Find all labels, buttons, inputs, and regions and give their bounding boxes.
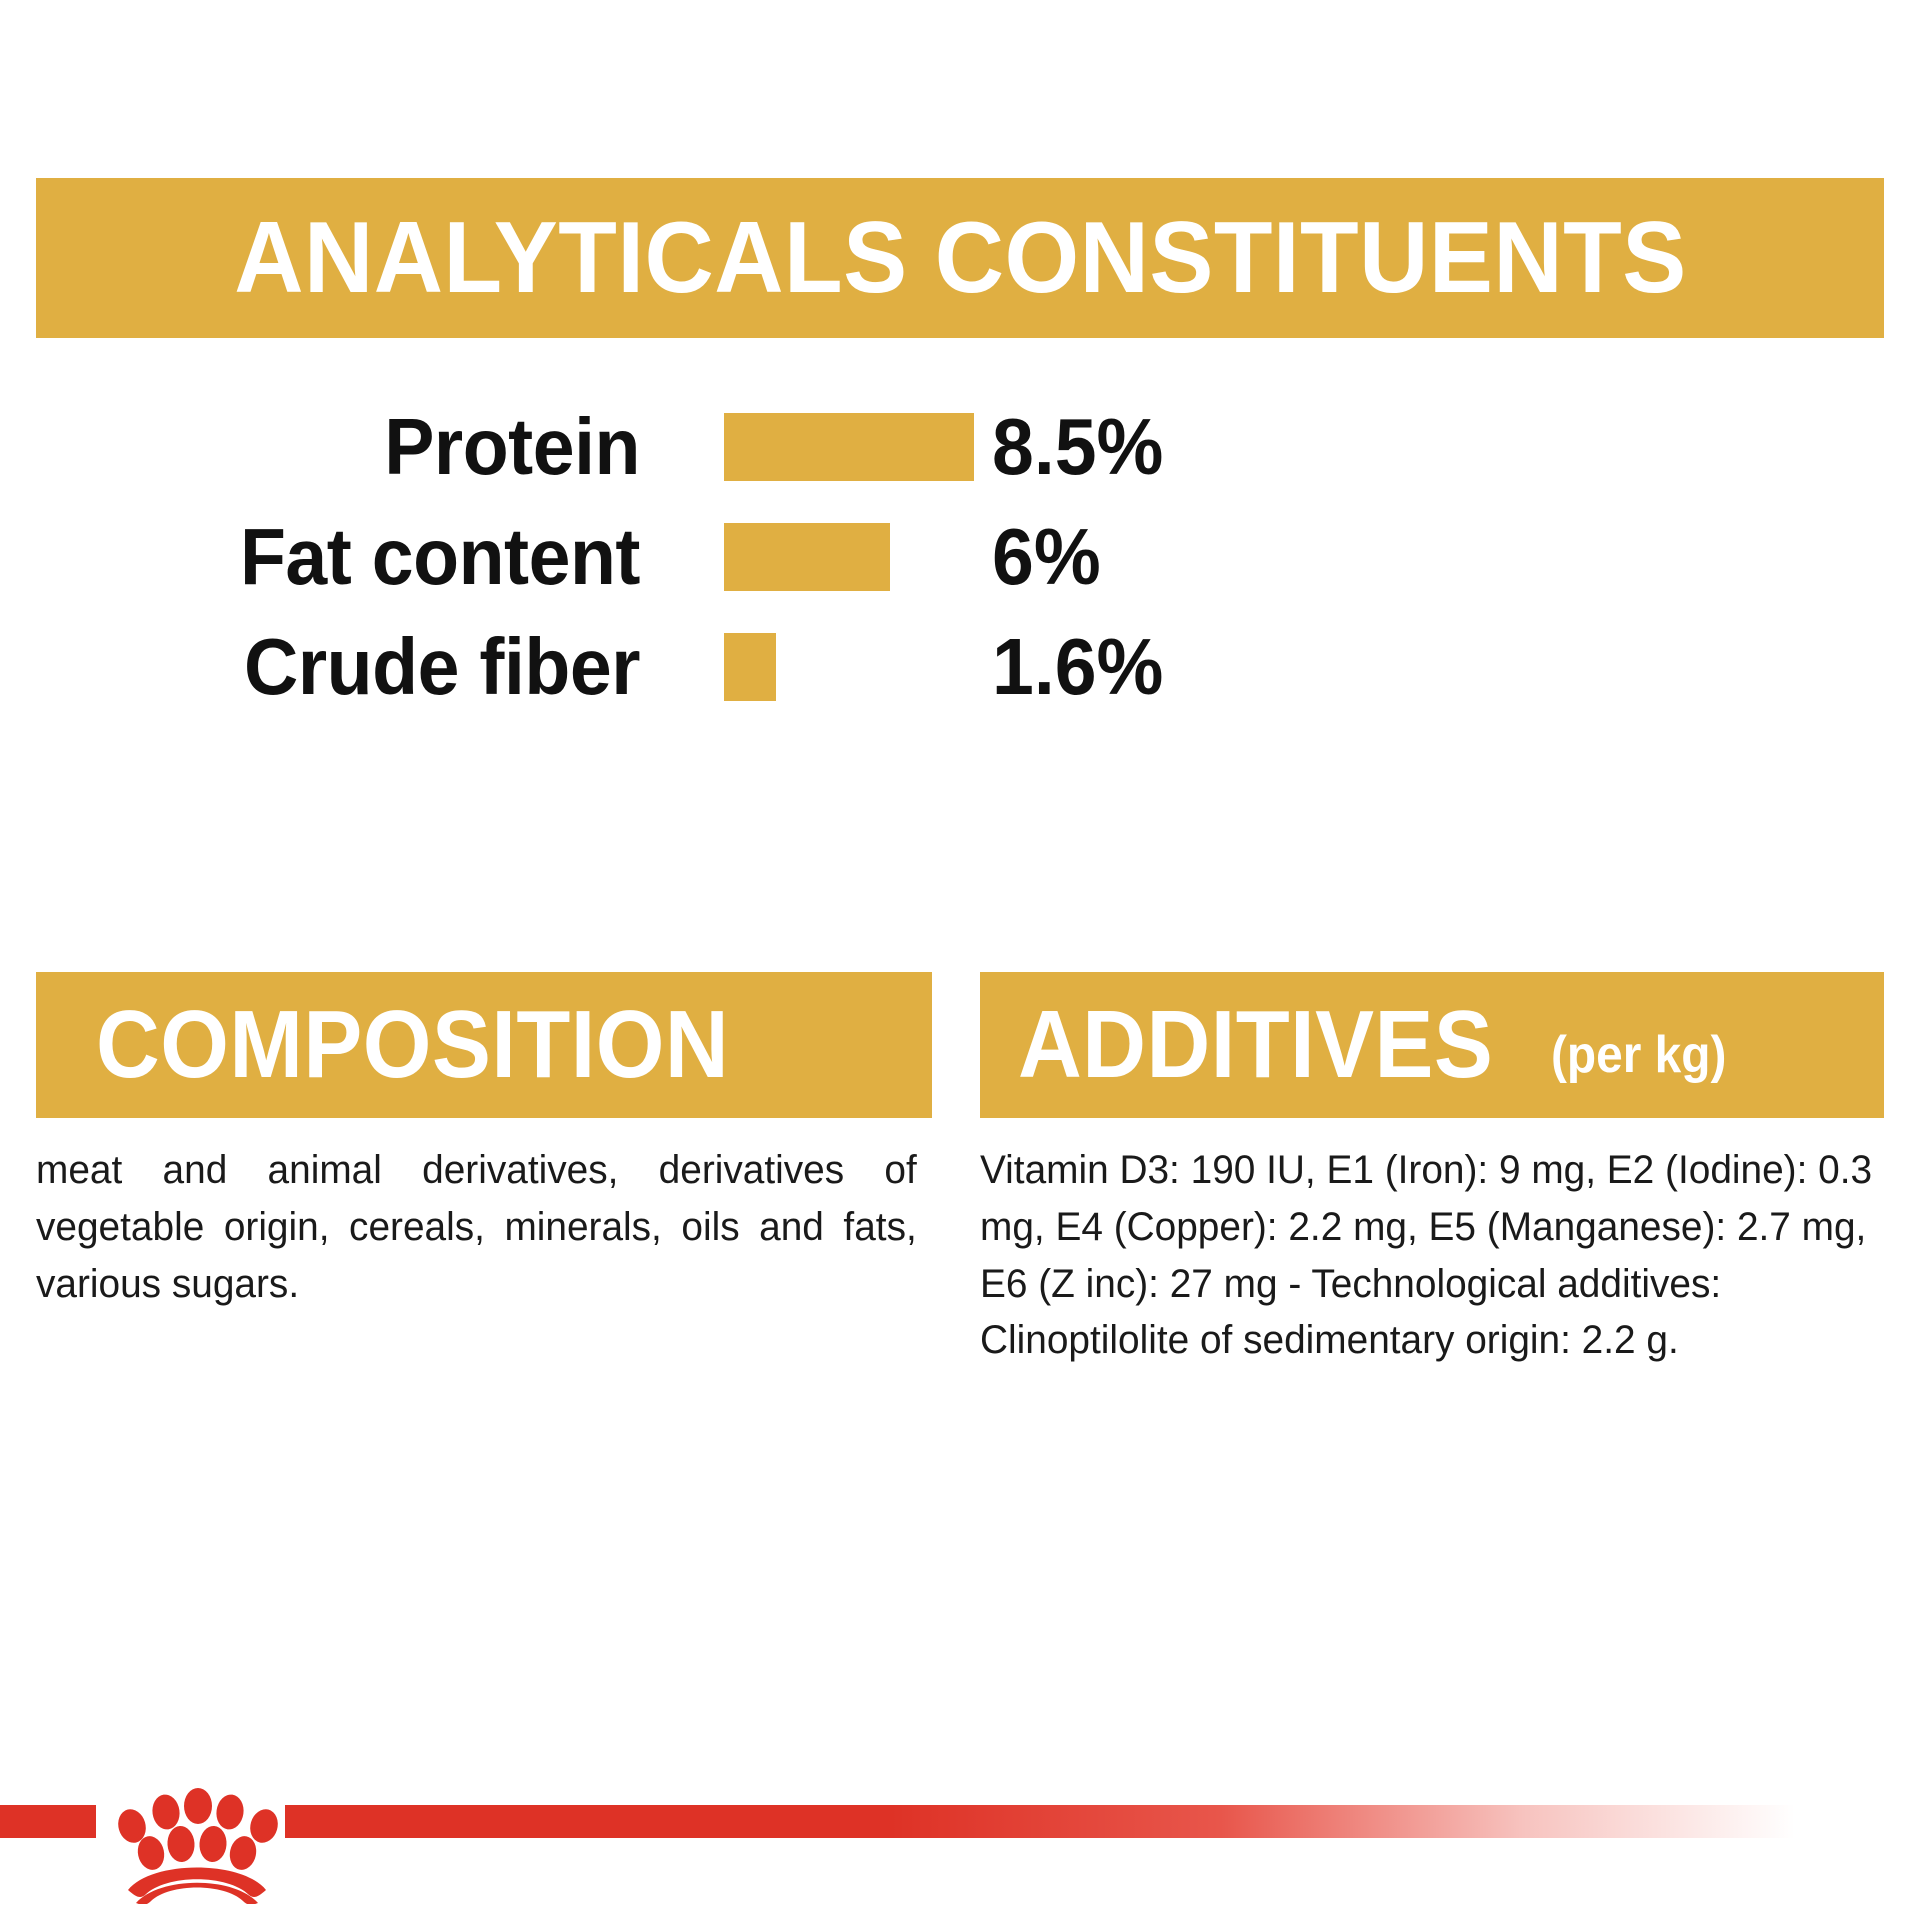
analytical-bar-cell: [724, 413, 992, 481]
composition-body-text: meat and animal derivatives, derivatives…: [36, 1142, 917, 1312]
analytical-value-protein: 8.5%: [992, 407, 1163, 487]
analyticals-banner: ANALYTICALS CONSTITUENTS: [36, 178, 1884, 338]
nutrition-panel: ANALYTICALS CONSTITUENTS Protein 8.5% Fa…: [0, 0, 1920, 1920]
additives-banner: ADDITIVES (per kg): [980, 972, 1884, 1118]
analytical-label-fat-content: Fat content: [38, 517, 640, 597]
analytical-bar-protein: [724, 413, 974, 481]
analytical-bar-cell: [724, 633, 992, 701]
additives-banner-title: ADDITIVES: [1018, 997, 1493, 1093]
composition-banner: COMPOSITION: [36, 972, 932, 1118]
analytical-bar-fat-content: [724, 523, 890, 591]
footer-rule-right: [285, 1805, 1795, 1838]
analytical-label-protein: Protein: [38, 407, 640, 487]
analytical-row: Protein 8.5%: [0, 392, 1920, 502]
analytical-row: Crude fiber 1.6%: [0, 612, 1920, 722]
analytical-value-fat-content: 6%: [992, 517, 1101, 597]
analyticals-chart: Protein 8.5% Fat content 6% Crude fiber …: [0, 392, 1920, 722]
composition-banner-title: COMPOSITION: [96, 997, 729, 1093]
analytical-row: Fat content 6%: [0, 502, 1920, 612]
analyticals-banner-title: ANALYTICALS CONSTITUENTS: [234, 208, 1686, 309]
footer: [0, 1790, 1920, 1920]
analytical-bar-crude-fiber: [724, 633, 776, 701]
additives-body-text: Vitamin D3: 190 IU, E1 (Iron): 9 mg, E2 …: [980, 1142, 1872, 1369]
royal-canin-crown-paw-logo: [108, 1782, 286, 1904]
analytical-bar-cell: [724, 523, 992, 591]
additives-banner-subtitle: (per kg): [1551, 1029, 1726, 1081]
analytical-value-crude-fiber: 1.6%: [992, 627, 1163, 707]
footer-rule-left: [0, 1805, 96, 1838]
analytical-label-crude-fiber: Crude fiber: [38, 627, 640, 707]
